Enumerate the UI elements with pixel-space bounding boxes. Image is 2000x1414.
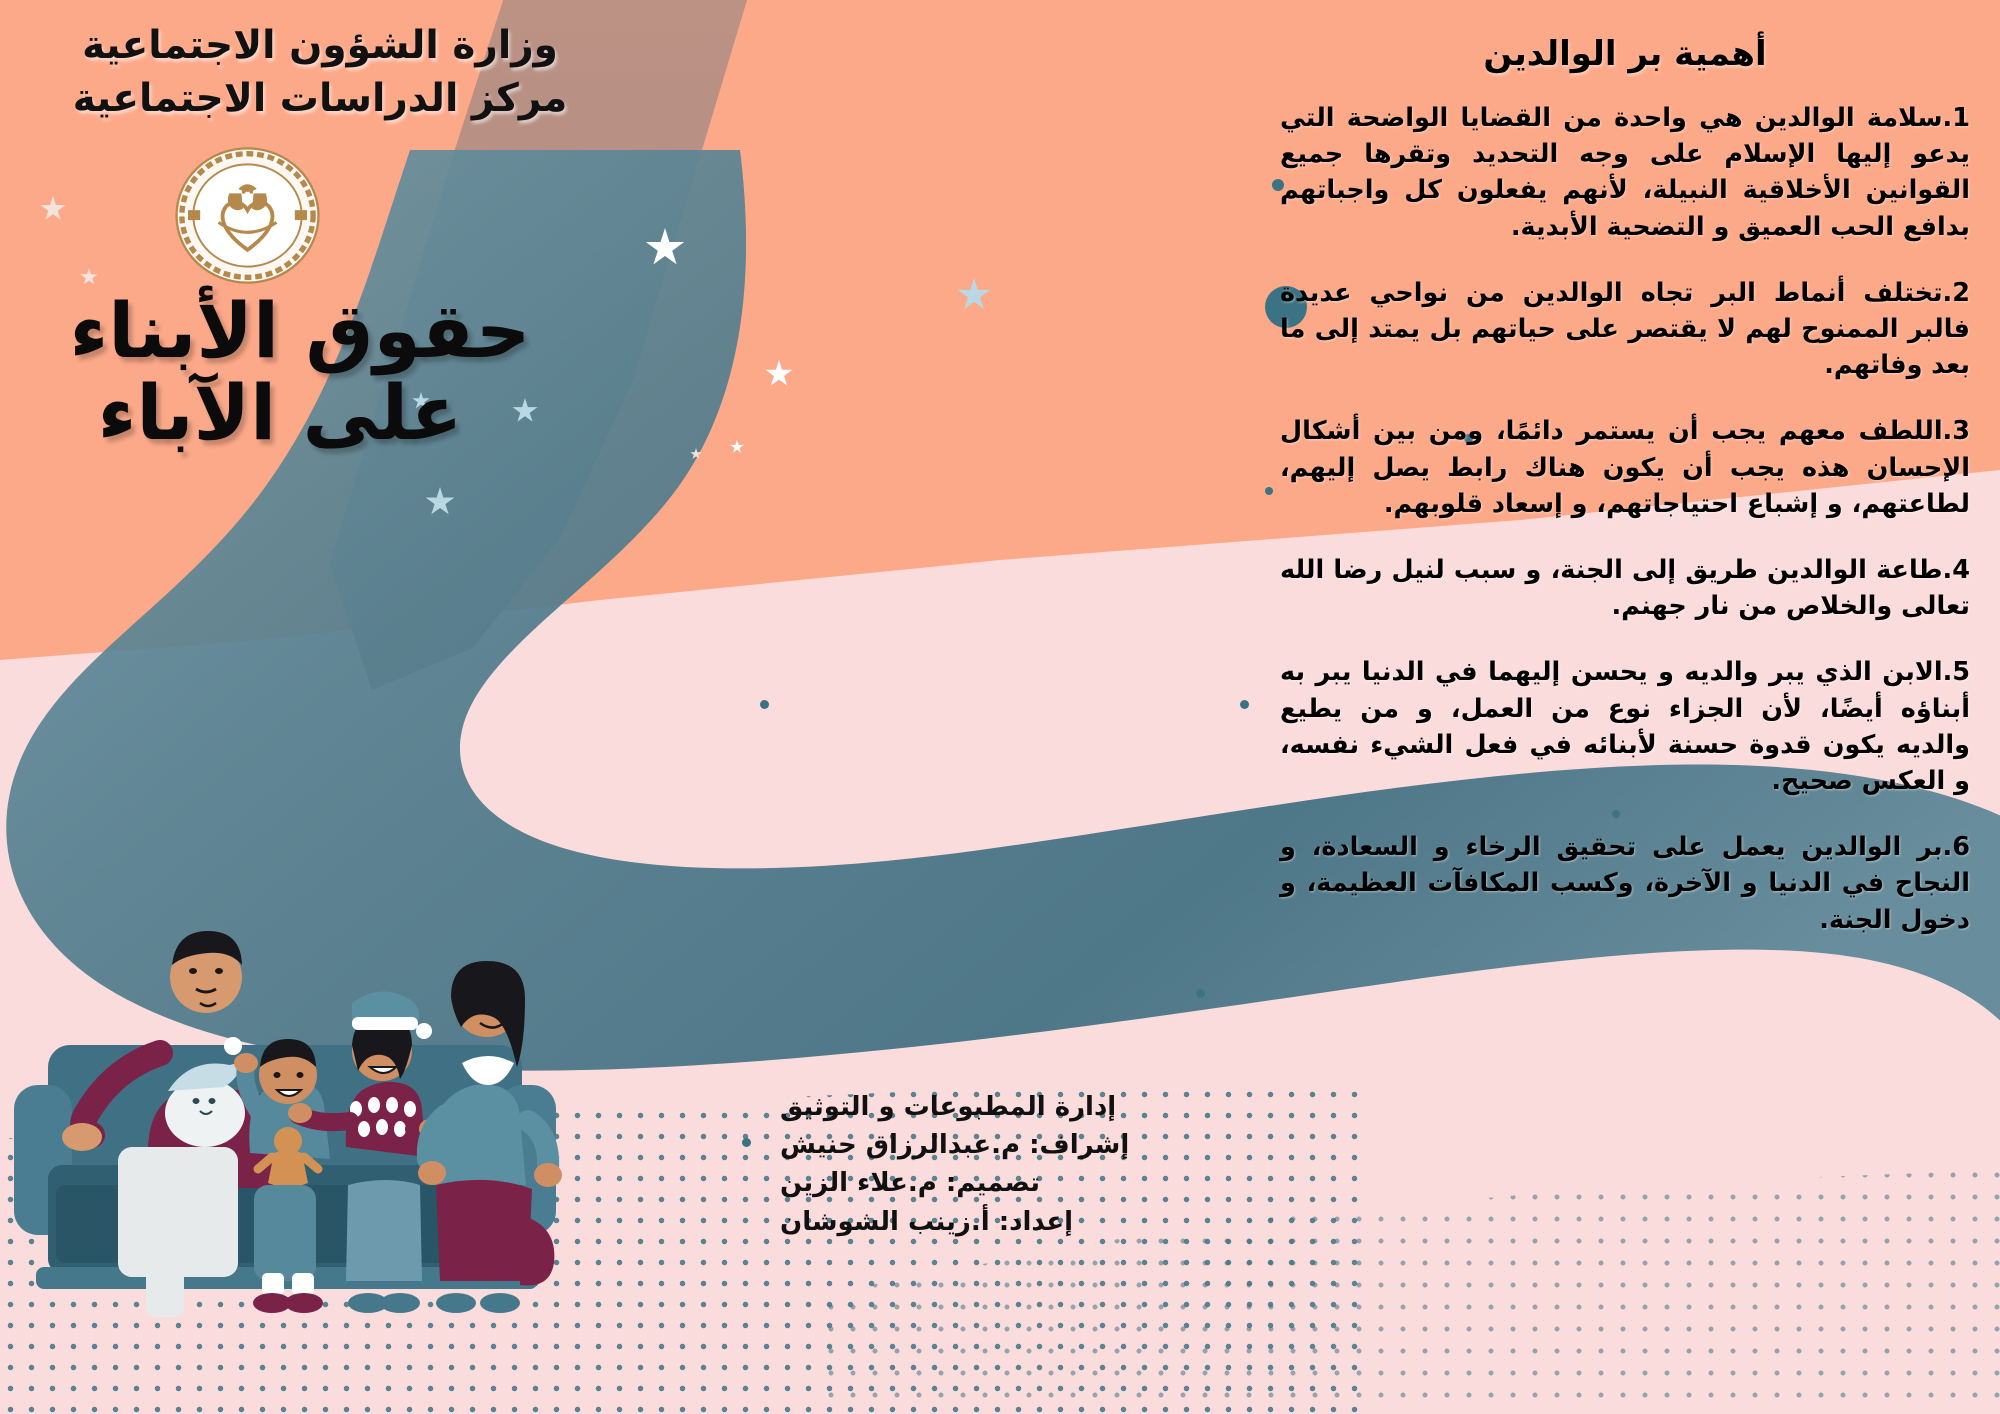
page-title-line-1: حقوق الأبناء — [60, 290, 540, 372]
list-item: 6.بر الوالدين يعمل على تحقيق الرخاء و ال… — [1280, 829, 1970, 938]
accent-dot — [1240, 700, 1249, 709]
list-item: 5.الابن الذي يبر والديه و يحسن إليهما في… — [1280, 654, 1970, 799]
center-name: مركز الدراسات الاجتماعية — [20, 73, 620, 126]
credit-preparation: إعداد: أ.زينب الشوشان — [780, 1203, 1240, 1241]
page-title: حقوق الأبناء على الآباء — [60, 290, 540, 454]
credit-supervision: إشراف: م.عبدالرزاق حنيش — [780, 1126, 1240, 1164]
list-item: 4.طاعة الوالدين طريق إلى الجنة، و سبب لن… — [1280, 552, 1970, 624]
page-title-line-2: على الآباء — [60, 372, 540, 454]
mother-figure — [418, 961, 562, 1313]
accent-dot — [760, 700, 769, 709]
organization-header: وزارة الشؤون الاجتماعية مركز الدراسات ال… — [20, 20, 620, 125]
ministry-logo-icon — [170, 143, 325, 288]
ministry-name: وزارة الشؤون الاجتماعية — [20, 20, 620, 73]
credit-department: إدارة المطبوعات و التوثيق — [780, 1088, 1240, 1126]
accent-dot — [742, 1138, 751, 1147]
poster-canvas: وزارة الشؤون الاجتماعية مركز الدراسات ال… — [0, 0, 2000, 1414]
accent-dot — [1196, 989, 1205, 998]
accent-dot — [1265, 487, 1273, 495]
content-column: أهمية بر الوالدين 1.سلامة الوالدين هي وا… — [1280, 34, 1970, 938]
family-on-couch-illustration — [0, 885, 570, 1325]
list-item: 3.اللطف معهم يجب أن يستمر دائمًا، ومن بي… — [1280, 413, 1970, 522]
credits-block: إدارة المطبوعات و التوثيق إشراف: م.عبدال… — [780, 1088, 1240, 1241]
section-heading: أهمية بر الوالدين — [1280, 34, 1970, 74]
list-item: 1.سلامة الوالدين هي واحدة من القضايا الو… — [1280, 100, 1970, 245]
list-item: 2.تختلف أنماط البر تجاه الوالدين من نواح… — [1280, 275, 1970, 384]
credit-design: تصميم: م.علاء الزين — [780, 1164, 1240, 1202]
